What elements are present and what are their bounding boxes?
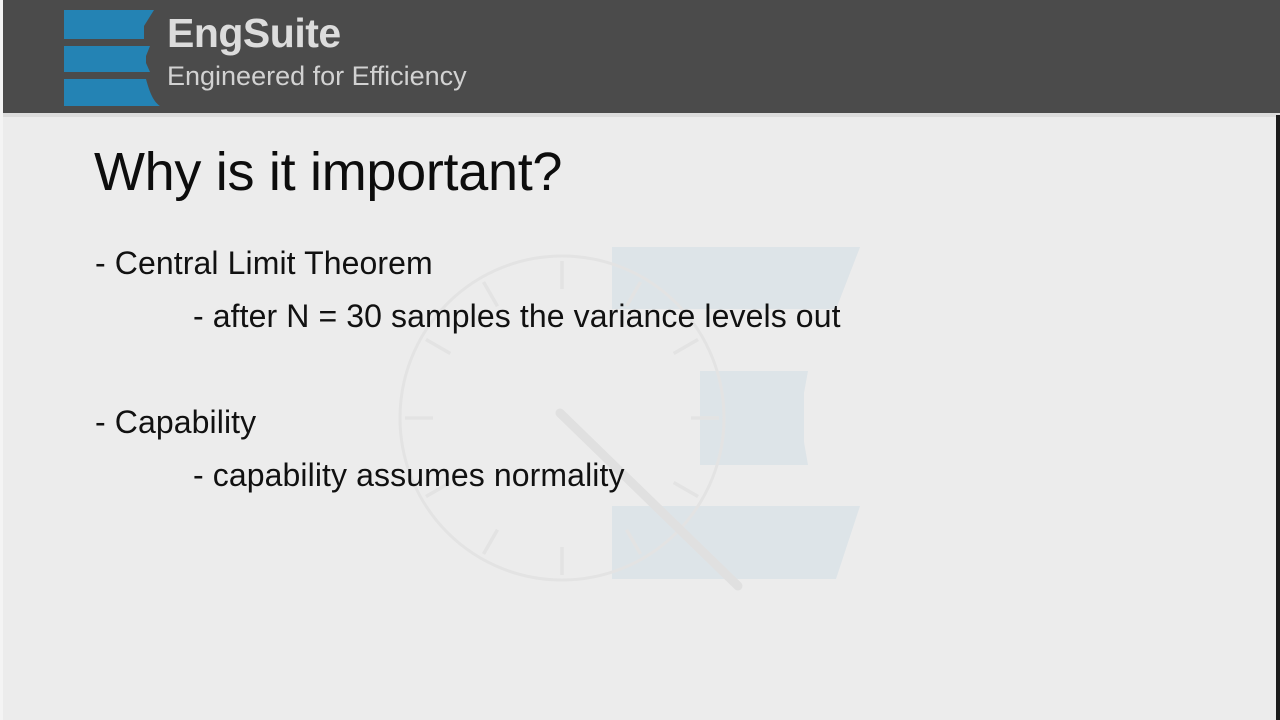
brand-tagline: Engineered for Efficiency xyxy=(167,58,467,94)
bullet-item: - Capability xyxy=(95,396,841,449)
brand-wordmark: EngSuite Engineered for Efficiency xyxy=(167,8,467,94)
slide-title: Why is it important? xyxy=(94,136,562,208)
bullet-item: - Central Limit Theorem xyxy=(95,237,841,290)
brand-name: EngSuite xyxy=(167,8,467,58)
header-divider xyxy=(0,113,1280,117)
bullet-spacer xyxy=(95,343,841,396)
bullet-item: - after N = 30 samples the variance leve… xyxy=(193,290,841,343)
engsuite-bars-logo-icon xyxy=(62,6,162,108)
slide-right-edge xyxy=(1276,115,1280,720)
bullet-item: - capability assumes normality xyxy=(193,449,841,502)
slide-left-edge xyxy=(0,0,3,720)
slide-body: - Central Limit Theorem - after N = 30 s… xyxy=(95,237,841,502)
presentation-slide: EngSuite Engineered for Efficiency Why i… xyxy=(0,0,1280,720)
